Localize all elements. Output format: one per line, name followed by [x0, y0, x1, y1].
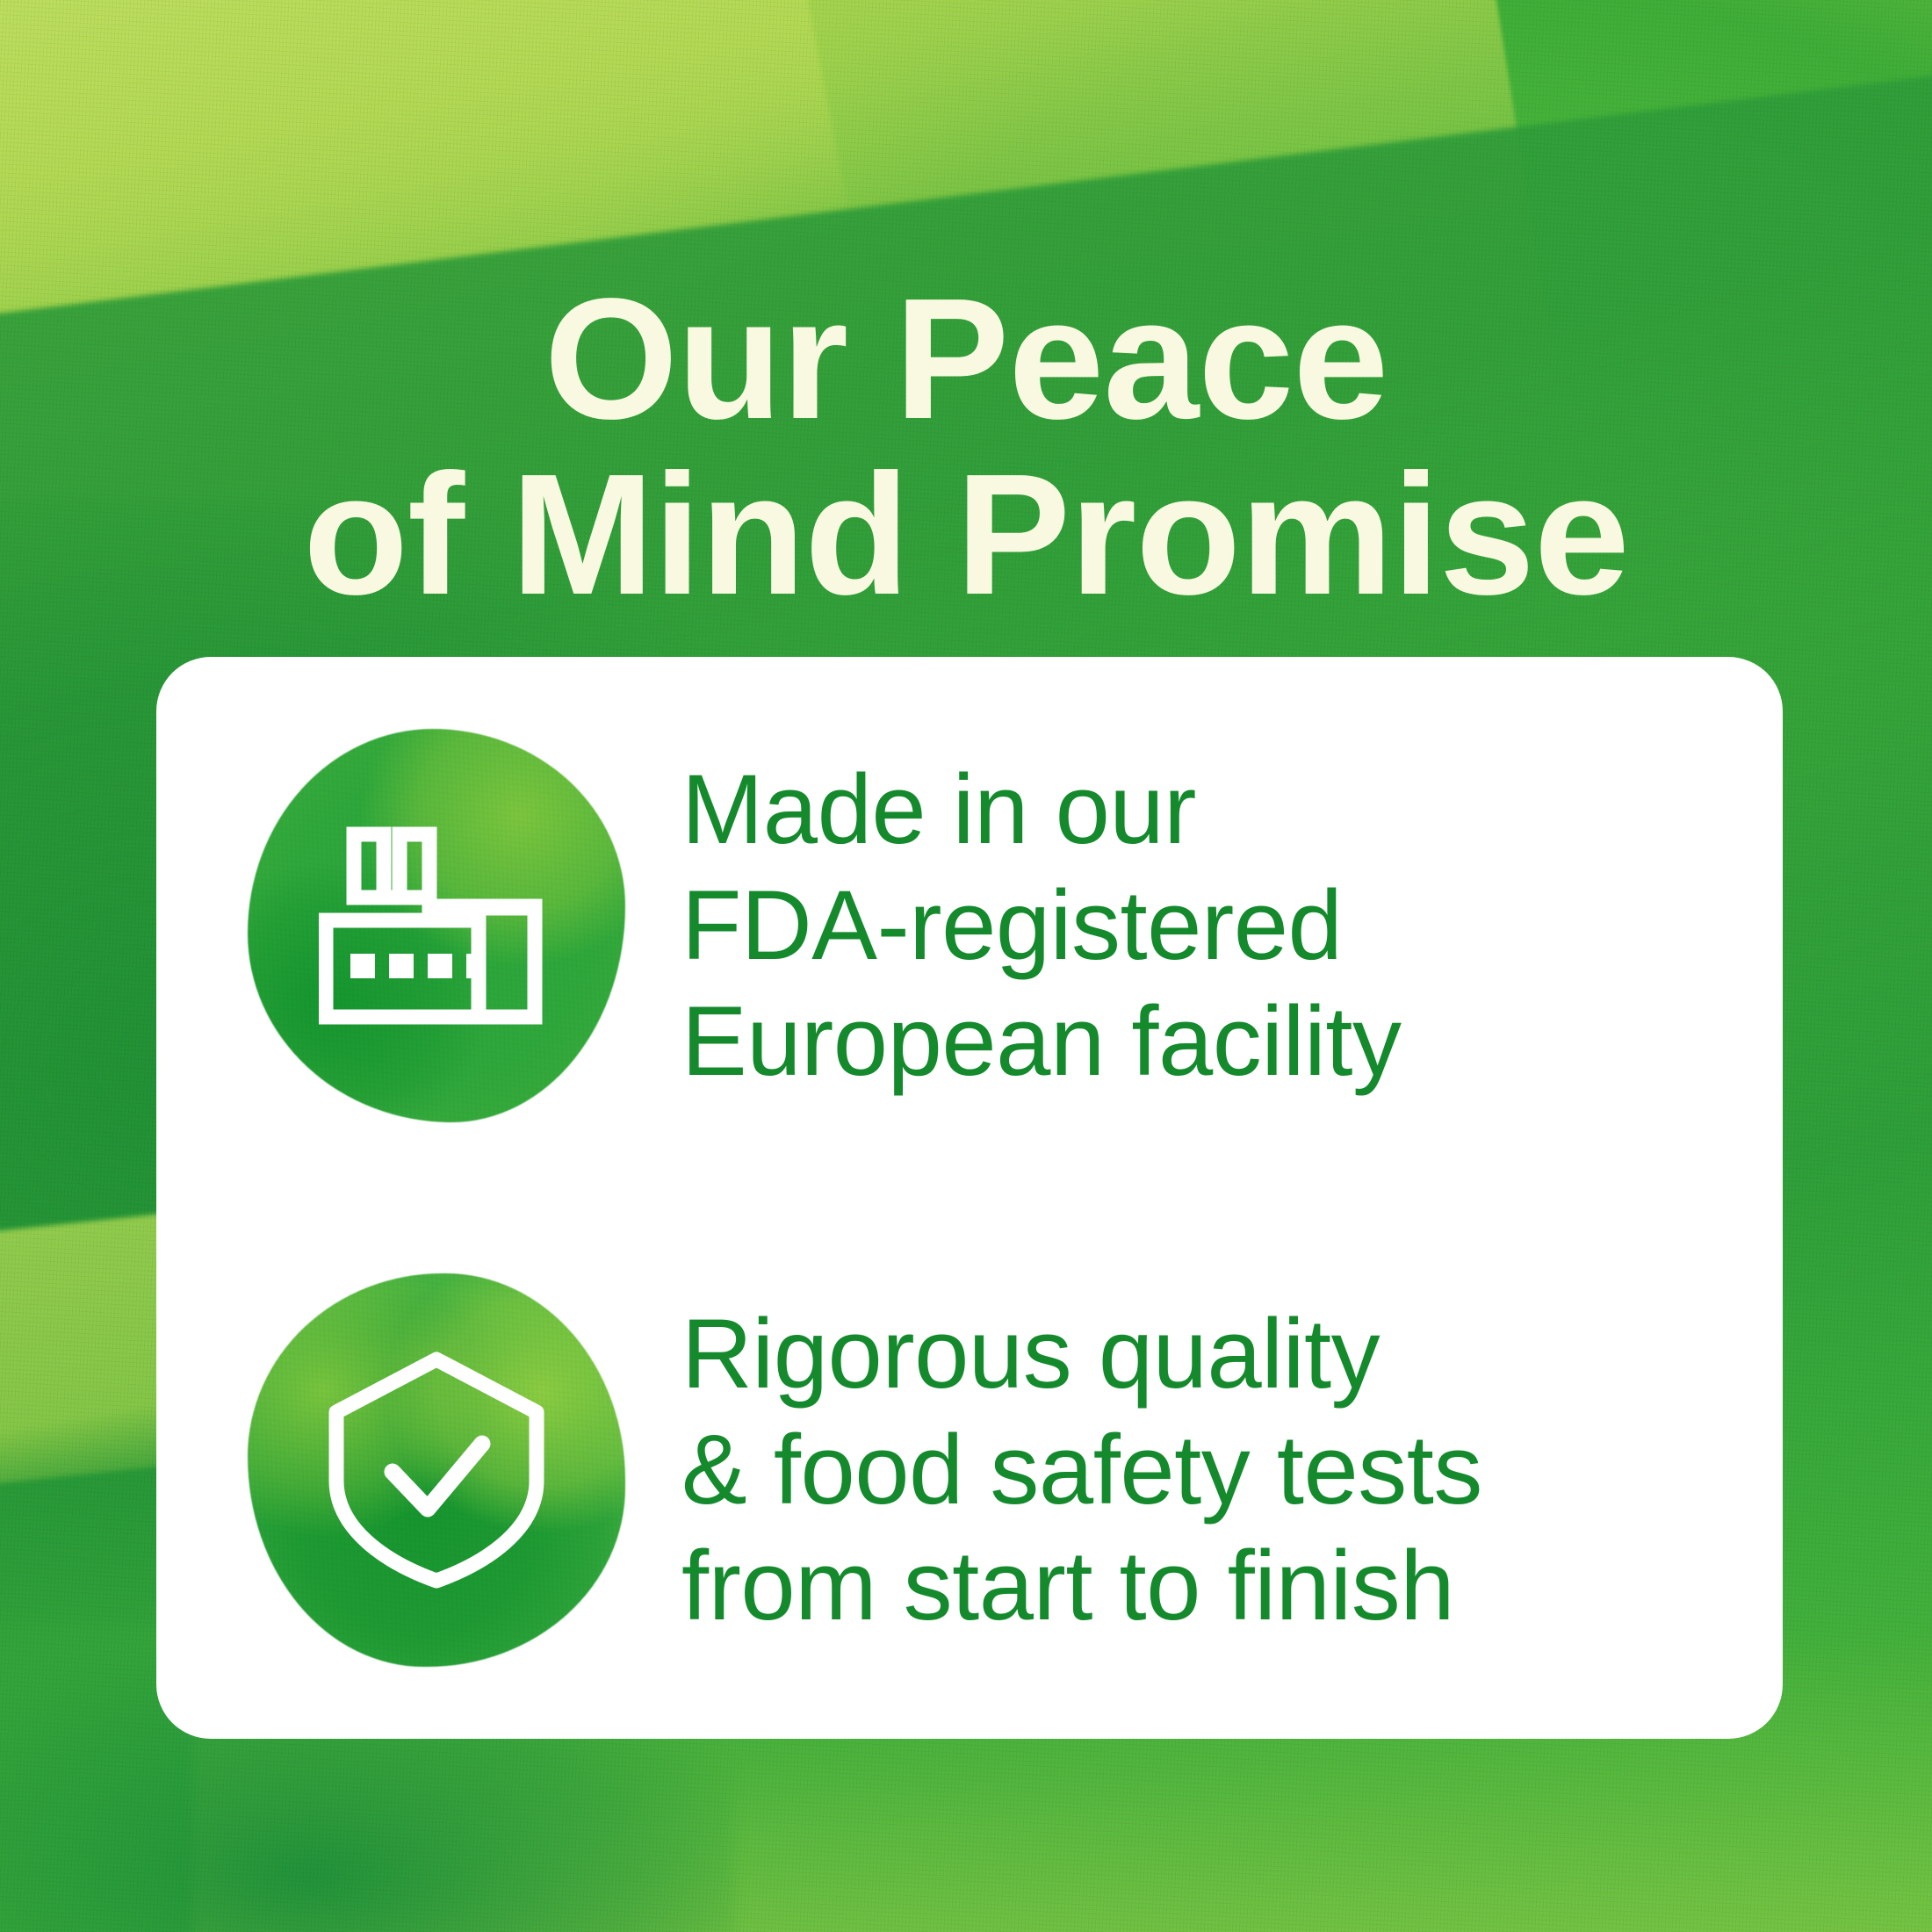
- promise-row-quality-text: Rigorous quality & food safety tests fro…: [681, 1296, 1482, 1644]
- promise-card: Made in our FDA-registered European faci…: [156, 657, 1783, 1739]
- shield-check-icon-badge: [248, 1273, 625, 1667]
- promise-row-quality: Rigorous quality & food safety tests fro…: [248, 1273, 1721, 1667]
- page-title-line-2: of Mind Promise: [0, 447, 1932, 623]
- promise-poster: Our Peace of Mind Promise: [0, 0, 1932, 1932]
- factory-icon: [248, 729, 625, 1122]
- shield-check-icon: [248, 1273, 625, 1667]
- page-title-line-1: Our Peace: [0, 271, 1932, 447]
- promise-row-list: Made in our FDA-registered European faci…: [156, 657, 1783, 1739]
- promise-row-manufacturing-text: Made in our FDA-registered European faci…: [681, 752, 1402, 1099]
- factory-icon-badge: [248, 729, 625, 1122]
- page-title: Our Peace of Mind Promise: [0, 271, 1932, 623]
- promise-row-manufacturing: Made in our FDA-registered European faci…: [248, 729, 1721, 1122]
